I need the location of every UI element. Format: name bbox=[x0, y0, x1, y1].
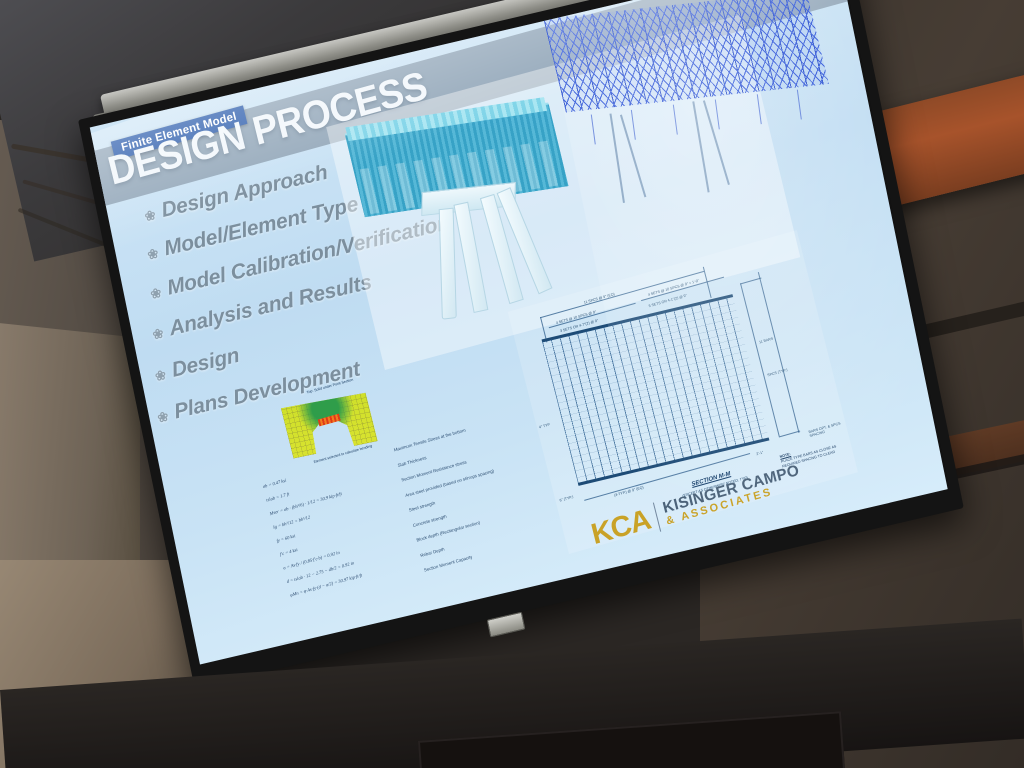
bullet-marker-icon: ❀ bbox=[151, 325, 165, 343]
wireframe-spur bbox=[715, 99, 720, 129]
wireframe-spur bbox=[797, 90, 802, 120]
bullet-marker-icon: ❀ bbox=[156, 408, 170, 426]
wireframe-spur bbox=[631, 110, 636, 140]
wireframe-spur bbox=[591, 114, 596, 144]
wireframe-spur bbox=[757, 94, 762, 124]
fem-contour-figure: Top: Solid under Point Section Element s… bbox=[282, 388, 378, 462]
pier-leg bbox=[453, 202, 488, 313]
equation-label-column: Maximum Tensile Stress at the bottom Sla… bbox=[393, 412, 554, 583]
fem-wireframe-model-figure bbox=[548, 0, 849, 204]
bullet-marker-icon: ❀ bbox=[143, 207, 157, 225]
wireframe-deck bbox=[543, 0, 828, 112]
pier-leg bbox=[439, 208, 457, 320]
room-scene: Finite Element Model DESIGN PROCESS ❀ De… bbox=[0, 0, 1024, 768]
logo-divider bbox=[653, 502, 662, 531]
bullet-marker-icon: ❀ bbox=[154, 367, 168, 385]
bullet-marker-icon: ❀ bbox=[146, 245, 160, 263]
bullet-label: Design bbox=[170, 344, 242, 383]
wireframe-spur bbox=[673, 105, 678, 135]
equation-column: σb = 0.47 ksi tslab = 1.7 ft Mser = σb ·… bbox=[262, 452, 406, 606]
bullet-marker-icon: ❀ bbox=[149, 285, 163, 303]
